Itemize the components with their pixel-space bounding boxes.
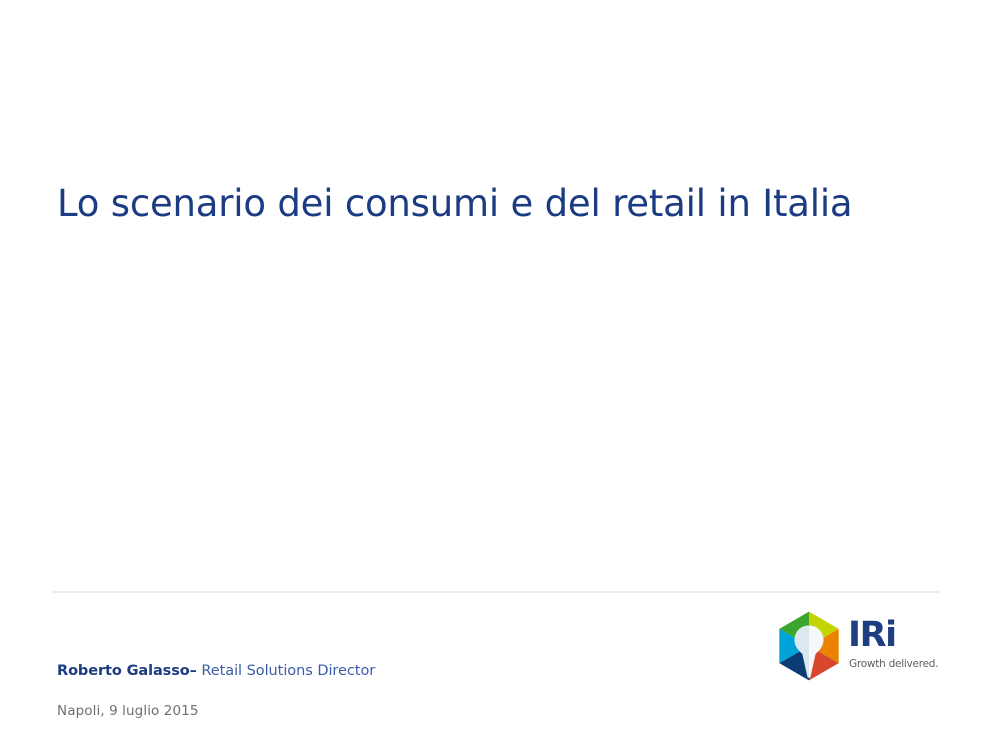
presenter-role: Retail Solutions Director <box>201 663 375 679</box>
iri-wordmark: IRi Growth delivered. <box>848 618 946 680</box>
presenter-line: Roberto Galasso– Retail Solutions Direct… <box>57 662 375 681</box>
presentation-slide: Lo scenario dei consumi e del retail in … <box>0 0 992 744</box>
iri-logo: IRi Growth delivered. <box>776 611 946 685</box>
page-title: Lo scenario dei consumi e del retail in … <box>57 183 917 224</box>
iri-tagline-text: Growth delivered. <box>849 659 946 670</box>
footer-divider <box>52 591 940 593</box>
presenter-name: Roberto Galasso– <box>57 663 197 679</box>
event-place-date: Napoli, 9 luglio 2015 <box>57 703 199 719</box>
iri-wordmark-text: IRi <box>848 618 946 653</box>
iri-hexagon-icon <box>776 611 842 681</box>
